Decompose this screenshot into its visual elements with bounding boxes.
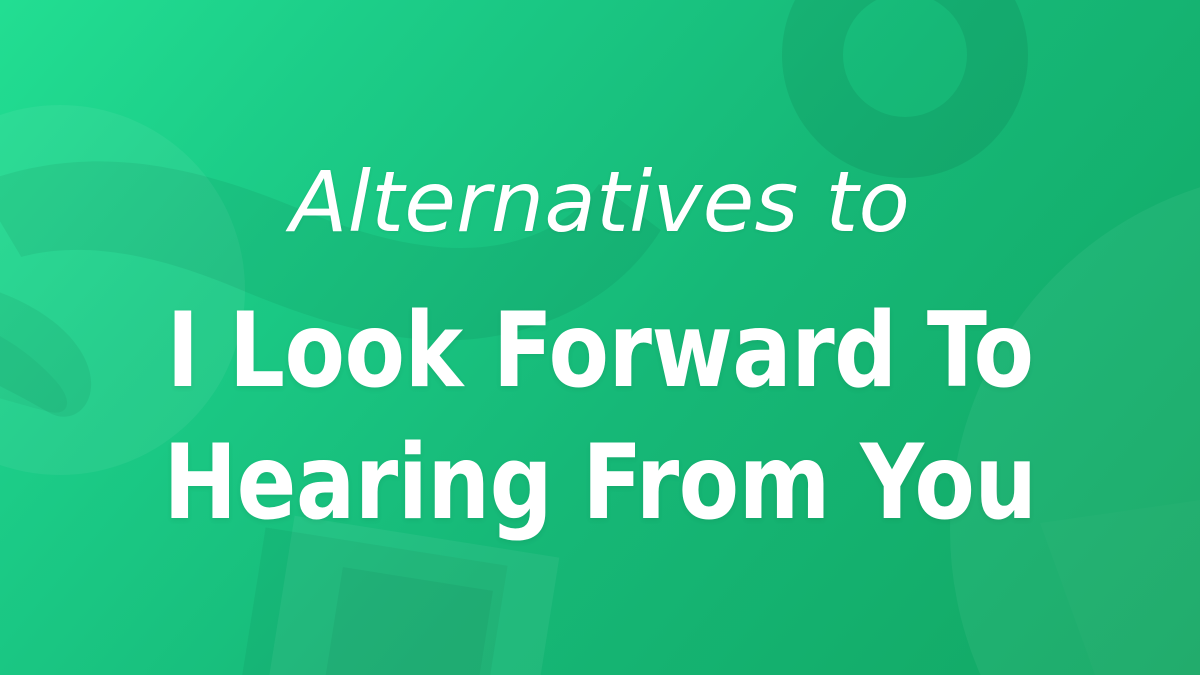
- banner-canvas: Alternatives to I Look Forward To Hearin…: [0, 0, 1200, 675]
- headline-line-2: Hearing From You: [30, 417, 1170, 549]
- banner-kicker: Alternatives to: [0, 160, 1200, 244]
- headline-line-1: I Look Forward To: [30, 285, 1170, 417]
- square-inner-shape: [227, 527, 507, 675]
- page-title: I Look Forward To Hearing From You: [0, 285, 1200, 549]
- square-core-shape: [319, 567, 493, 675]
